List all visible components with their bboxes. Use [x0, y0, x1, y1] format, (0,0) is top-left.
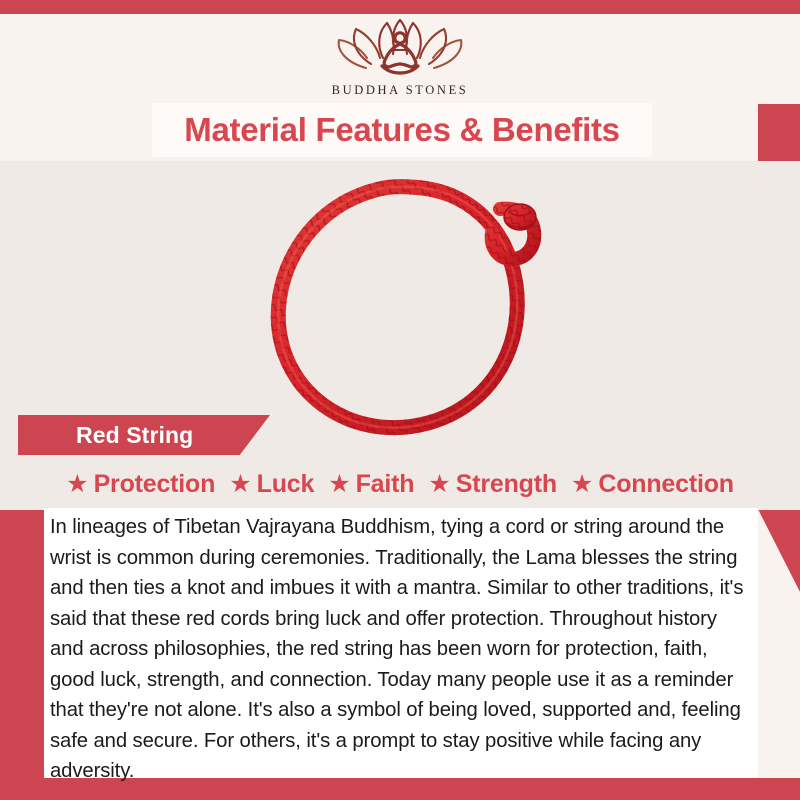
- lotus-meditation-icon: [325, 14, 475, 81]
- benefit-item: ★ Strength: [428, 470, 557, 499]
- page-title: Material Features & Benefits: [184, 111, 619, 149]
- benefit-label: Faith: [356, 470, 415, 499]
- material-label: Red String: [76, 422, 193, 449]
- benefit-item: ★ Faith: [328, 470, 414, 499]
- description-panel: In lineages of Tibetan Vajrayana Buddhis…: [44, 508, 758, 778]
- brand-header: BUDDHA STONES: [0, 14, 800, 104]
- benefit-label: Strength: [456, 470, 557, 499]
- red-braided-string-bracelet-icon: [232, 173, 572, 458]
- star-icon: ★: [428, 472, 450, 497]
- material-ribbon: Red String: [18, 415, 270, 455]
- product-image-panel: [0, 161, 800, 510]
- benefit-item: ★ Connection: [571, 470, 734, 499]
- title-band: Material Features & Benefits: [152, 103, 652, 157]
- star-icon: ★: [229, 472, 251, 497]
- benefit-label: Luck: [257, 470, 315, 499]
- star-icon: ★: [571, 472, 593, 497]
- description-text: In lineages of Tibetan Vajrayana Buddhis…: [44, 512, 758, 787]
- benefit-item: ★ Luck: [229, 470, 314, 499]
- infographic-card: BUDDHA STONES Material Features & Benefi…: [0, 0, 800, 800]
- frame-top-bar: [0, 0, 800, 14]
- benefit-label: Connection: [598, 470, 734, 499]
- brand-logo: BUDDHA STONES: [0, 14, 800, 98]
- star-icon: ★: [328, 472, 350, 497]
- benefit-item: ★ Protection: [66, 470, 215, 499]
- benefits-row: ★ Protection ★ Luck ★ Faith ★ Strength ★…: [0, 462, 800, 506]
- star-icon: ★: [66, 472, 88, 497]
- brand-name: BUDDHA STONES: [332, 83, 469, 98]
- benefit-label: Protection: [94, 470, 216, 499]
